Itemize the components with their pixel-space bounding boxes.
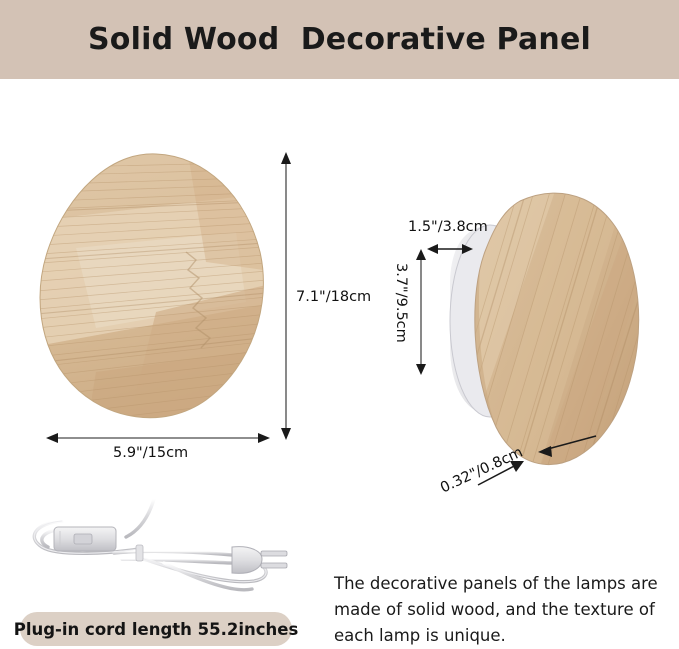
description-line-1: The decorative panels of the lamps are bbox=[334, 571, 664, 597]
base-depth-label: 1.5"/3.8cm bbox=[408, 219, 488, 235]
wood-panel-front-view bbox=[36, 152, 268, 424]
product-description: The decorative panels of the lamps are m… bbox=[334, 571, 664, 649]
base-diameter-label: 3.7"/9.5cm bbox=[393, 263, 409, 343]
width-dimension-label: 5.9"/15cm bbox=[113, 445, 188, 461]
power-plug bbox=[232, 547, 287, 574]
power-cord-illustration bbox=[18, 497, 318, 607]
page-title: Solid Wood Decorative Panel bbox=[0, 0, 679, 79]
cord-length-badge: Plug-in cord length 55.2inches bbox=[20, 612, 292, 646]
height-dimension-label: 7.1"/18cm bbox=[296, 289, 371, 305]
description-line-3: each lamp is unique. bbox=[334, 623, 664, 649]
cord-switch-box bbox=[54, 527, 116, 551]
description-line-2: made of solid wood, and the texture of bbox=[334, 597, 664, 623]
product-infographic: Solid Wood Decorative Panel bbox=[0, 0, 679, 649]
